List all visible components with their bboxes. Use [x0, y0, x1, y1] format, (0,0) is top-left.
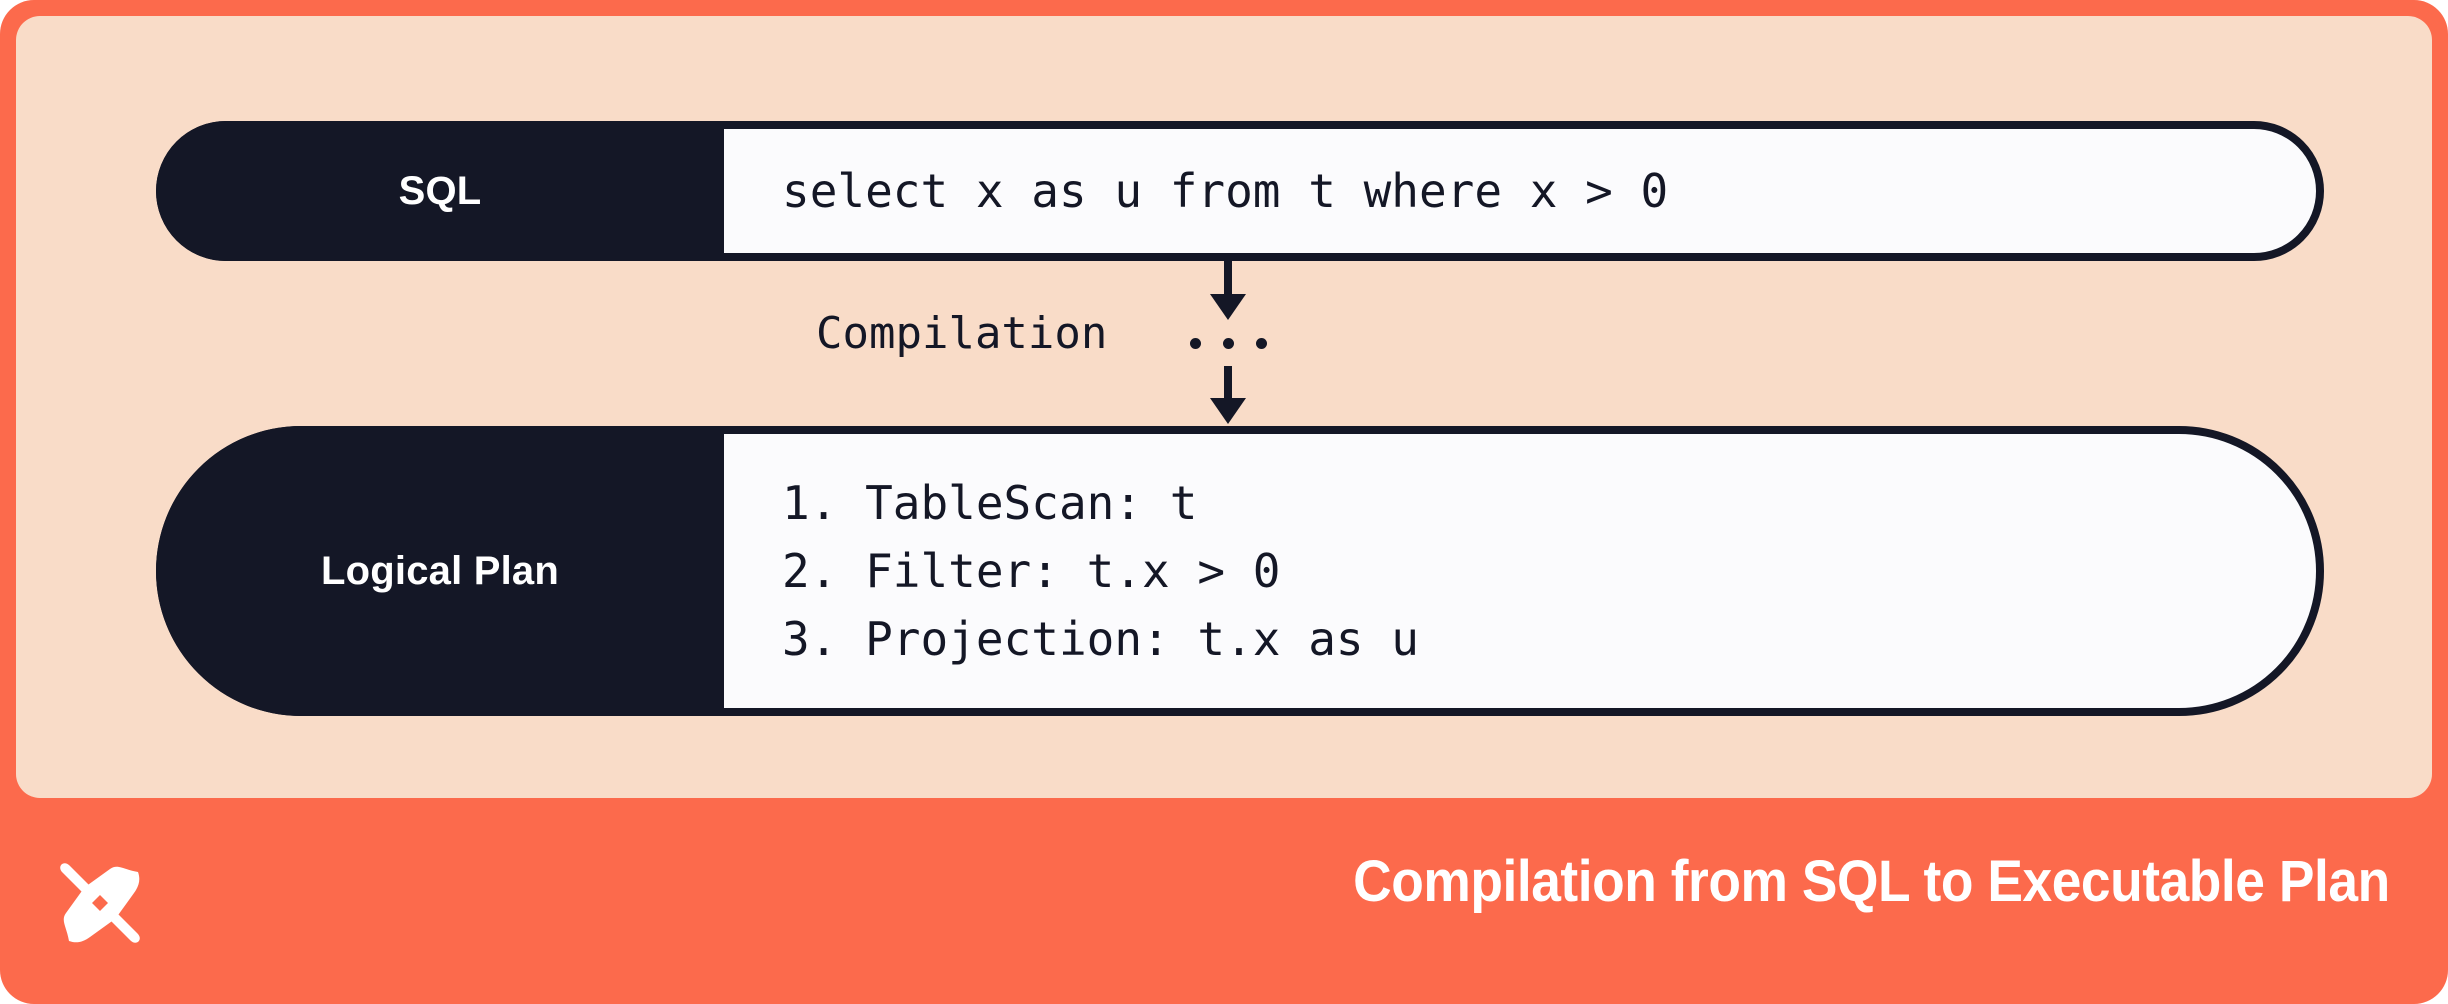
diagram-card: SQL select x as u from t where x > 0 Com… — [0, 0, 2448, 1004]
logical-plan-step: 2. Filter: t.x > 0 — [782, 537, 2324, 605]
logical-plan-step: 3. Projection: t.x as u — [782, 605, 2324, 673]
compilation-connector — [1188, 261, 1268, 426]
logical-plan-row-label: Logical Plan — [156, 426, 724, 716]
logical-plan-row-body: 1. TableScan: t 2. Filter: t.x > 0 3. Pr… — [724, 426, 2324, 716]
footer-band: Compilation from SQL to Executable Plan — [0, 798, 2448, 1004]
arrow-down-bottom-head — [1210, 398, 1246, 424]
arrow-down-bottom-shaft — [1224, 366, 1232, 400]
footer-caption: Compilation from SQL to Executable Plan — [1353, 848, 2390, 915]
databend-logo-icon — [50, 853, 150, 953]
arrow-down-top-head — [1210, 294, 1246, 320]
ellipsis-dot — [1256, 338, 1267, 349]
ellipsis-dot — [1223, 338, 1234, 349]
diagram-panel: SQL select x as u from t where x > 0 Com… — [16, 16, 2432, 798]
ellipsis-dot — [1190, 338, 1201, 349]
logical-plan-row: Logical Plan 1. TableScan: t 2. Filter: … — [156, 426, 2324, 716]
arrow-down-top-shaft — [1224, 261, 1232, 297]
sql-statement: select x as u from t where x > 0 — [782, 164, 2324, 218]
logical-plan-step: 1. TableScan: t — [782, 469, 2324, 537]
sql-row-body: select x as u from t where x > 0 — [724, 121, 2324, 261]
ellipsis-icon — [1188, 332, 1268, 354]
sql-row-label: SQL — [156, 121, 724, 261]
sql-row: SQL select x as u from t where x > 0 — [156, 121, 2324, 261]
compilation-step-label: Compilation — [816, 308, 1107, 359]
